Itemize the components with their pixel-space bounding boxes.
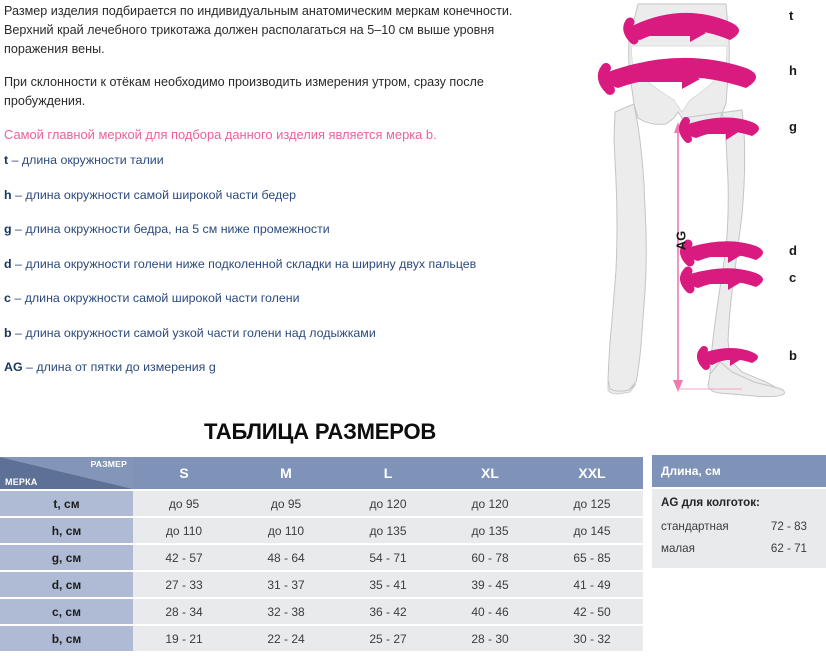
legend-key-c: c xyxy=(4,291,11,305)
legend-text-t: – длина окружности талии xyxy=(12,153,164,167)
intro-text-block: Размер изделия подбирается по индивидуал… xyxy=(4,2,544,160)
cell-t-s: до 95 xyxy=(133,491,235,516)
intro-paragraph-1: Размер изделия подбирается по индивидуал… xyxy=(4,2,544,59)
header-size-label: РАЗМЕР xyxy=(91,459,127,469)
cell-c-xl: 40 - 46 xyxy=(439,599,541,624)
figure-label-h: h xyxy=(789,63,797,78)
length-label-standard: стандартная xyxy=(661,520,729,533)
intro-highlight-note: Самой главной меркой для подбора данного… xyxy=(4,125,544,144)
row-measure-d: d, см xyxy=(0,572,133,597)
legend-item-d: d – длина окружности голени ниже подколе… xyxy=(4,256,604,272)
cell-h-l: до 135 xyxy=(337,518,439,543)
intro-paragraph-2: При склонности к отёкам необходимо произ… xyxy=(4,73,544,111)
cell-d-m: 31 - 37 xyxy=(235,572,337,597)
legend-key-t: t xyxy=(4,153,8,167)
length-panel-subtitle: AG для колготок: xyxy=(661,496,817,509)
cell-t-l: до 120 xyxy=(337,491,439,516)
length-panel: Длина, см AG для колготок: стандартная 7… xyxy=(652,455,826,568)
cell-h-xl: до 135 xyxy=(439,518,541,543)
legend-item-c: c – длина окружности самой широкой части… xyxy=(4,290,604,306)
header-size-m: M xyxy=(235,457,337,489)
legend-text-ag: – длина от пятки до измерения g xyxy=(26,360,216,374)
figure-label-c: c xyxy=(789,270,796,285)
measure-ring-d-arrow xyxy=(684,241,763,263)
figure-label-b: b xyxy=(789,348,797,363)
page-title: ТАБЛИЦА РАЗМЕРОВ xyxy=(0,419,640,445)
table-row: c, см 28 - 34 32 - 38 36 - 42 40 - 46 42… xyxy=(0,599,643,624)
measurement-legend-list: t – длина окружности талии h – длина окр… xyxy=(4,152,604,394)
legend-key-b: b xyxy=(4,326,12,340)
row-measure-t: t, см xyxy=(0,491,133,516)
table-row: t, см до 95 до 95 до 120 до 120 до 125 xyxy=(0,491,643,516)
table-row: b, см 19 - 21 22 - 24 25 - 27 28 - 30 30… xyxy=(0,626,643,651)
size-table: РАЗМЕР МЕРКА S M L XL XXL t, см до 95 до… xyxy=(0,455,643,653)
table-header-row: РАЗМЕР МЕРКА S M L XL XXL xyxy=(0,457,643,489)
figure-label-ag: AG xyxy=(673,231,688,251)
length-value-small: 62 - 71 xyxy=(771,542,817,555)
cell-c-l: 36 - 42 xyxy=(337,599,439,624)
legend-text-d: – длина окружности голени ниже подколенн… xyxy=(15,257,476,271)
row-measure-h: h, см xyxy=(0,518,133,543)
row-measure-g: g, см xyxy=(0,545,133,570)
length-panel-body: AG для колготок: стандартная 72 - 83 мал… xyxy=(652,489,826,568)
legend-text-b: – длина окружности самой узкой части гол… xyxy=(15,326,376,340)
row-measure-c: c, см xyxy=(0,599,133,624)
cell-b-l: 25 - 27 xyxy=(337,626,439,651)
cell-h-m: до 110 xyxy=(235,518,337,543)
figure-label-d: d xyxy=(789,243,797,258)
cell-g-s: 42 - 57 xyxy=(133,545,235,570)
legend-key-d: d xyxy=(4,257,12,271)
header-size-l: L xyxy=(337,457,439,489)
legend-item-t: t – длина окружности талии xyxy=(4,152,604,168)
body-measurement-illustration xyxy=(530,0,826,405)
cell-c-xxl: 42 - 50 xyxy=(541,599,643,624)
header-corner-cell: РАЗМЕР МЕРКА xyxy=(0,457,133,489)
length-label-small: малая xyxy=(661,542,695,555)
header-size-xl: XL xyxy=(439,457,541,489)
cell-g-l: 54 - 71 xyxy=(337,545,439,570)
length-row-standard: стандартная 72 - 83 xyxy=(661,520,817,533)
cell-b-s: 19 - 21 xyxy=(133,626,235,651)
cell-b-m: 22 - 24 xyxy=(235,626,337,651)
header-measure-label: МЕРКА xyxy=(5,477,38,487)
cell-d-s: 27 - 33 xyxy=(133,572,235,597)
legend-item-ag: AG – длина от пятки до измерения g xyxy=(4,359,604,375)
table-row: h, см до 110 до 110 до 135 до 135 до 145 xyxy=(0,518,643,543)
legend-item-h: h – длина окружности самой широкой части… xyxy=(4,187,604,203)
table-row: g, см 42 - 57 48 - 64 54 - 71 60 - 78 65… xyxy=(0,545,643,570)
cell-t-m: до 95 xyxy=(235,491,337,516)
length-value-standard: 72 - 83 xyxy=(771,520,817,533)
legend-key-g: g xyxy=(4,222,12,236)
header-size-s: S xyxy=(133,457,235,489)
cell-b-xl: 28 - 30 xyxy=(439,626,541,651)
cell-g-m: 48 - 64 xyxy=(235,545,337,570)
cell-d-xxl: 41 - 49 xyxy=(541,572,643,597)
cell-d-l: 35 - 41 xyxy=(337,572,439,597)
cell-g-xxl: 65 - 85 xyxy=(541,545,643,570)
table-row: d, см 27 - 33 31 - 37 35 - 41 39 - 45 41… xyxy=(0,572,643,597)
legend-key-ag: AG xyxy=(4,360,23,374)
cell-t-xl: до 120 xyxy=(439,491,541,516)
legend-text-h: – длина окружности самой широкой части б… xyxy=(15,188,296,202)
cell-g-xl: 60 - 78 xyxy=(439,545,541,570)
legend-item-b: b – длина окружности самой узкой части г… xyxy=(4,325,604,341)
cell-t-xxl: до 125 xyxy=(541,491,643,516)
cell-h-s: до 110 xyxy=(133,518,235,543)
cell-h-xxl: до 145 xyxy=(541,518,643,543)
legend-text-g: – длина окружности бедра, на 5 см ниже п… xyxy=(15,222,330,236)
cell-b-xxl: 30 - 32 xyxy=(541,626,643,651)
cell-c-s: 28 - 34 xyxy=(133,599,235,624)
row-measure-b: b, см xyxy=(0,626,133,651)
size-chart-page: Размер изделия подбирается по индивидуал… xyxy=(0,0,826,656)
cell-c-m: 32 - 38 xyxy=(235,599,337,624)
header-size-xxl: XXL xyxy=(541,457,643,489)
length-row-small: малая 62 - 71 xyxy=(661,542,817,555)
legend-key-h: h xyxy=(4,188,12,202)
figure-label-g: g xyxy=(789,119,797,134)
legend-item-g: g – длина окружности бедра, на 5 см ниже… xyxy=(4,221,604,237)
figure-label-t: t xyxy=(789,8,793,23)
legend-text-c: – длина окружности самой широкой части г… xyxy=(14,291,299,305)
cell-d-xl: 39 - 45 xyxy=(439,572,541,597)
length-panel-header: Длина, см xyxy=(652,455,826,487)
